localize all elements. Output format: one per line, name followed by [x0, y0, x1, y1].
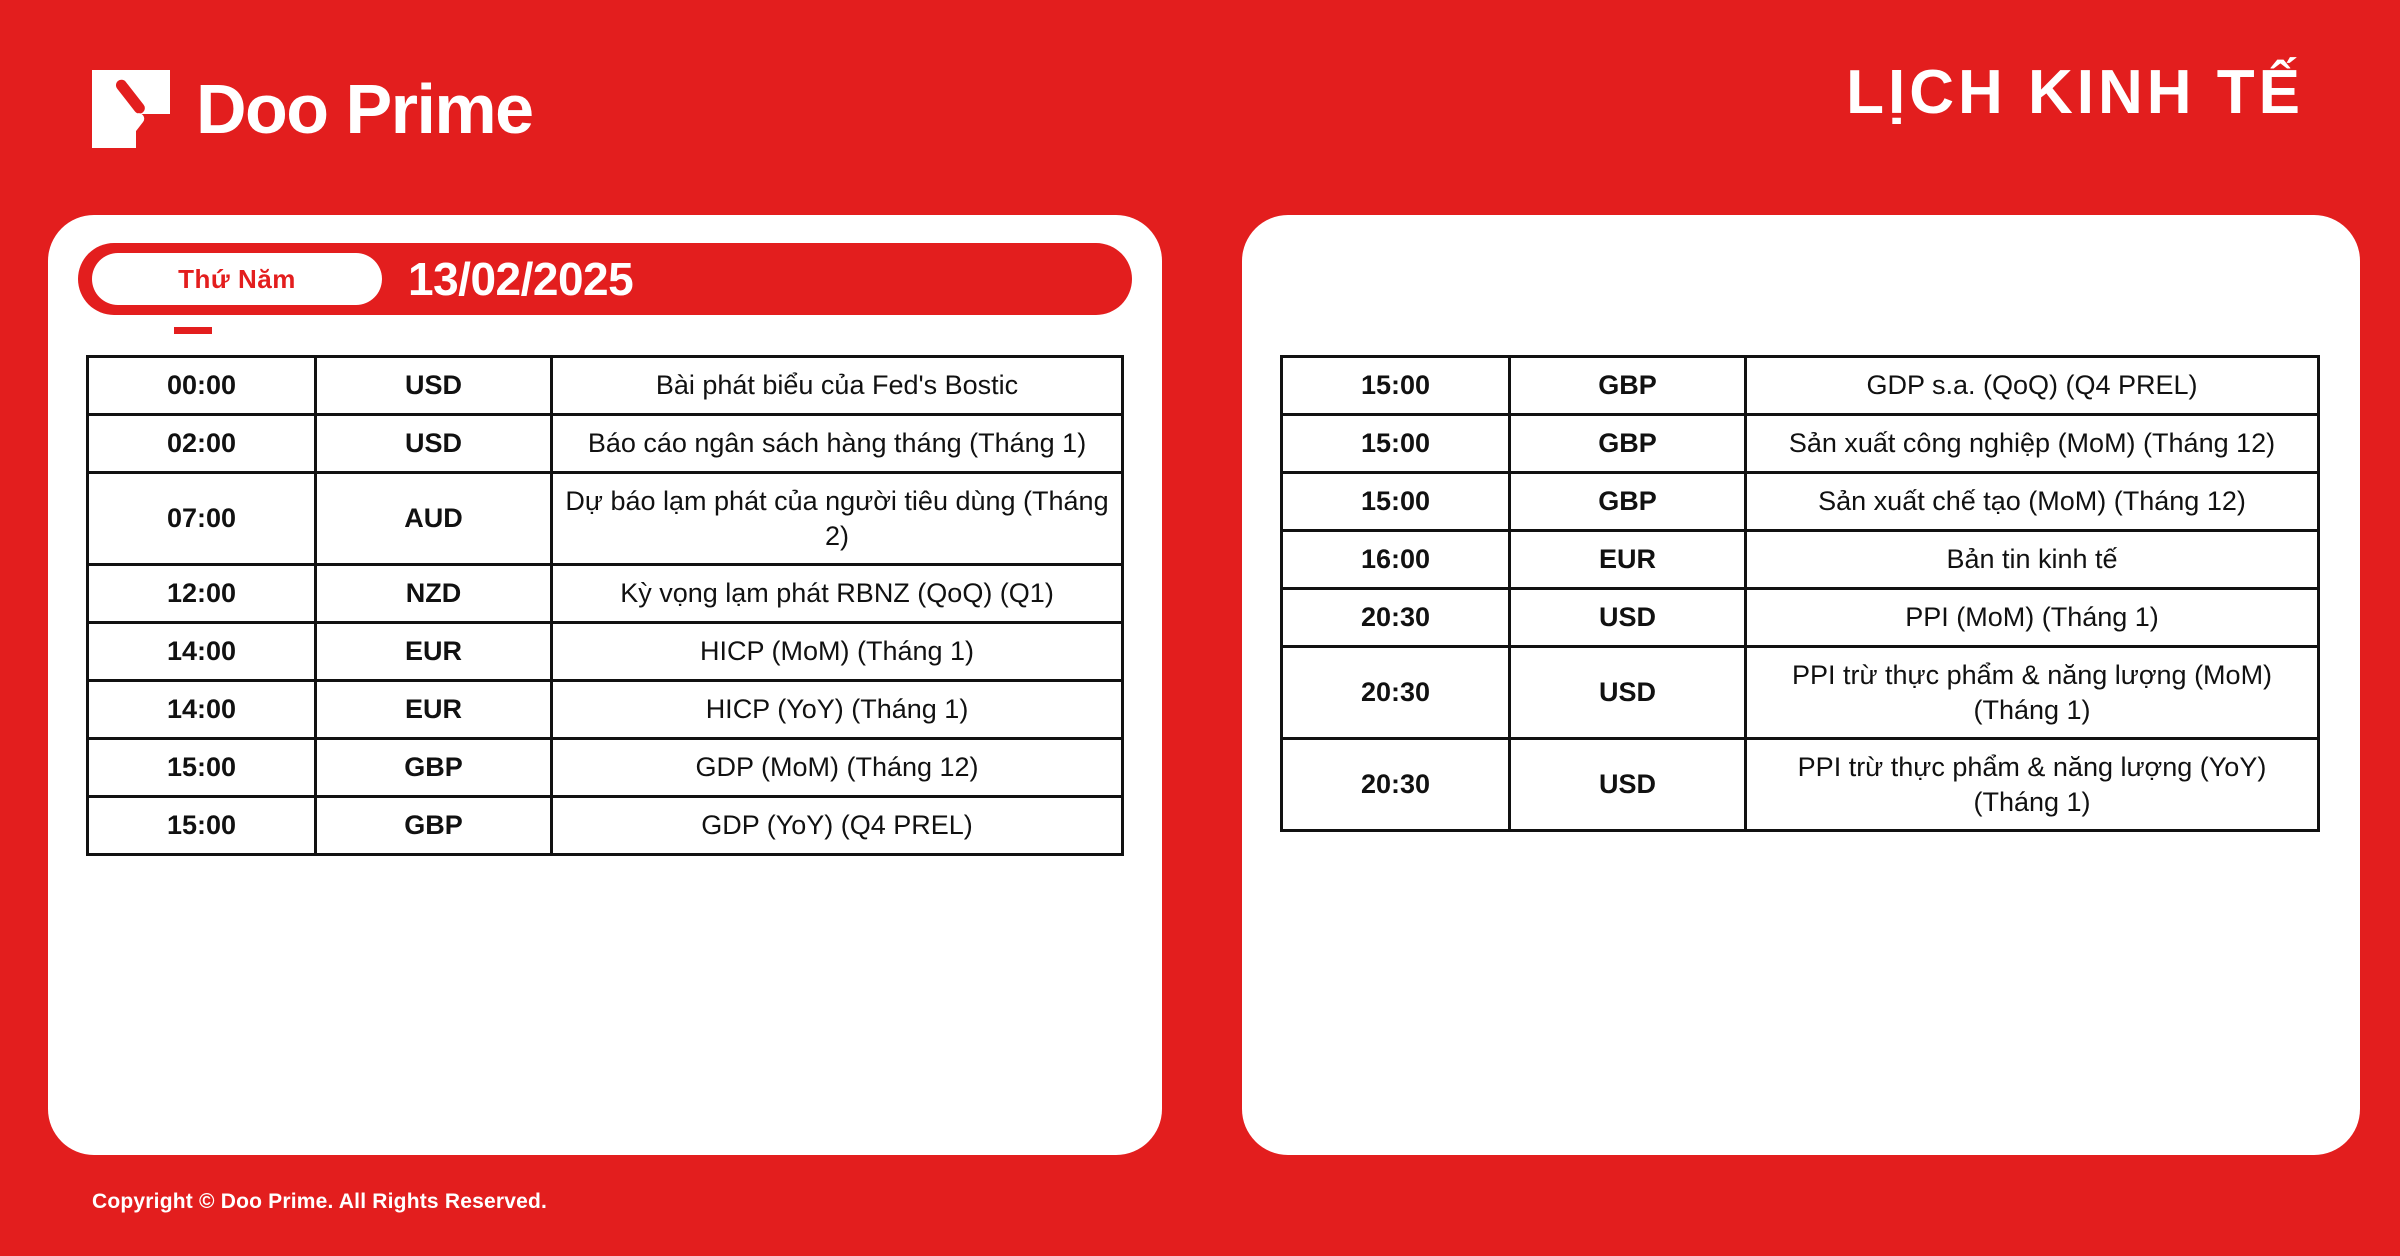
- table-row: 20:30USDPPI (MoM) (Tháng 1): [1282, 589, 2319, 647]
- event-currency-cell: USD: [1510, 647, 1746, 739]
- table-row: 20:30USDPPI trừ thực phẩm & năng lượng (…: [1282, 647, 2319, 739]
- event-time-cell: 00:00: [88, 357, 316, 415]
- economic-events-table-left: 00:00USDBài phát biểu của Fed's Bostic02…: [86, 355, 1124, 856]
- event-name-cell: Sản xuất công nghiệp (MoM) (Tháng 12): [1746, 415, 2319, 473]
- event-currency-cell: GBP: [1510, 357, 1746, 415]
- table-row: 20:30USDPPI trừ thực phẩm & năng lượng (…: [1282, 739, 2319, 831]
- event-name-cell: Dự báo lạm phát của người tiêu dùng (Thá…: [552, 473, 1123, 565]
- economic-events-table-right: 15:00GBPGDP s.a. (QoQ) (Q4 PREL)15:00GBP…: [1280, 355, 2320, 832]
- event-name-cell: Bản tin kinh tế: [1746, 531, 2319, 589]
- event-time-cell: 02:00: [88, 415, 316, 473]
- brand-lockup: Doo Prime: [92, 70, 533, 148]
- date-bar: Thứ Năm 13/02/2025: [78, 243, 1132, 315]
- event-currency-cell: USD: [1510, 589, 1746, 647]
- table-row: 14:00EURHICP (MoM) (Tháng 1): [88, 623, 1123, 681]
- event-time-cell: 14:00: [88, 681, 316, 739]
- table-row: 12:00NZDKỳ vọng lạm phát RBNZ (QoQ) (Q1): [88, 565, 1123, 623]
- event-currency-cell: GBP: [316, 797, 552, 855]
- calendar-card-left: Thứ Năm 13/02/2025 00:00USDBài phát biểu…: [48, 215, 1162, 1155]
- event-currency-cell: EUR: [1510, 531, 1746, 589]
- table-body-left: 00:00USDBài phát biểu của Fed's Bostic02…: [88, 357, 1123, 855]
- table-row: 15:00GBPSản xuất chế tạo (MoM) (Tháng 12…: [1282, 473, 2319, 531]
- table-row: 14:00EURHICP (YoY) (Tháng 1): [88, 681, 1123, 739]
- event-currency-cell: NZD: [316, 565, 552, 623]
- event-time-cell: 07:00: [88, 473, 316, 565]
- event-currency-cell: GBP: [316, 739, 552, 797]
- table-body-right: 15:00GBPGDP s.a. (QoQ) (Q4 PREL)15:00GBP…: [1282, 357, 2319, 831]
- event-name-cell: Báo cáo ngân sách hàng tháng (Tháng 1): [552, 415, 1123, 473]
- table-row: 15:00GBPGDP s.a. (QoQ) (Q4 PREL): [1282, 357, 2319, 415]
- doo-prime-logomark-icon: [92, 70, 170, 148]
- calendar-card-right: 15:00GBPGDP s.a. (QoQ) (Q4 PREL)15:00GBP…: [1242, 215, 2360, 1155]
- event-name-cell: GDP (YoY) (Q4 PREL): [552, 797, 1123, 855]
- weekday-label: Thứ Năm: [178, 264, 296, 295]
- table-row: 07:00AUDDự báo lạm phát của người tiêu d…: [88, 473, 1123, 565]
- table-row: 00:00USDBài phát biểu của Fed's Bostic: [88, 357, 1123, 415]
- event-name-cell: HICP (YoY) (Tháng 1): [552, 681, 1123, 739]
- date-value: 13/02/2025: [408, 252, 633, 306]
- table-row: 16:00EURBản tin kinh tế: [1282, 531, 2319, 589]
- event-currency-cell: EUR: [316, 623, 552, 681]
- event-currency-cell: GBP: [1510, 415, 1746, 473]
- event-time-cell: 20:30: [1282, 589, 1510, 647]
- event-time-cell: 12:00: [88, 565, 316, 623]
- event-time-cell: 15:00: [1282, 415, 1510, 473]
- table-row: 15:00GBPGDP (YoY) (Q4 PREL): [88, 797, 1123, 855]
- event-currency-cell: GBP: [1510, 473, 1746, 531]
- event-name-cell: PPI (MoM) (Tháng 1): [1746, 589, 2319, 647]
- event-currency-cell: USD: [316, 415, 552, 473]
- event-name-cell: HICP (MoM) (Tháng 1): [552, 623, 1123, 681]
- event-time-cell: 15:00: [1282, 357, 1510, 415]
- table-row: 15:00GBPGDP (MoM) (Tháng 12): [88, 739, 1123, 797]
- event-name-cell: Sản xuất chế tạo (MoM) (Tháng 12): [1746, 473, 2319, 531]
- event-time-cell: 16:00: [1282, 531, 1510, 589]
- event-time-cell: 15:00: [88, 797, 316, 855]
- page-header: Doo Prime LỊCH KINH TẾ: [0, 0, 2400, 215]
- brand-name: Doo Prime: [196, 74, 533, 144]
- weekday-pill: Thứ Năm: [92, 253, 382, 305]
- event-time-cell: 20:30: [1282, 647, 1510, 739]
- event-name-cell: Kỳ vọng lạm phát RBNZ (QoQ) (Q1): [552, 565, 1123, 623]
- page-title: LỊCH KINH TẾ: [1846, 62, 2304, 124]
- event-time-cell: 15:00: [1282, 473, 1510, 531]
- event-name-cell: PPI trừ thực phẩm & năng lượng (YoY) (Th…: [1746, 739, 2319, 831]
- event-currency-cell: USD: [316, 357, 552, 415]
- event-time-cell: 14:00: [88, 623, 316, 681]
- event-name-cell: GDP s.a. (QoQ) (Q4 PREL): [1746, 357, 2319, 415]
- event-name-cell: GDP (MoM) (Tháng 12): [552, 739, 1123, 797]
- copyright-text: Copyright © Doo Prime. All Rights Reserv…: [92, 1190, 547, 1214]
- event-currency-cell: EUR: [316, 681, 552, 739]
- event-currency-cell: USD: [1510, 739, 1746, 831]
- event-time-cell: 15:00: [88, 739, 316, 797]
- table-row: 15:00GBPSản xuất công nghiệp (MoM) (Thán…: [1282, 415, 2319, 473]
- event-currency-cell: AUD: [316, 473, 552, 565]
- event-time-cell: 20:30: [1282, 739, 1510, 831]
- date-underline-dash: [174, 327, 212, 334]
- event-name-cell: Bài phát biểu của Fed's Bostic: [552, 357, 1123, 415]
- event-name-cell: PPI trừ thực phẩm & năng lượng (MoM) (Th…: [1746, 647, 2319, 739]
- table-row: 02:00USDBáo cáo ngân sách hàng tháng (Th…: [88, 415, 1123, 473]
